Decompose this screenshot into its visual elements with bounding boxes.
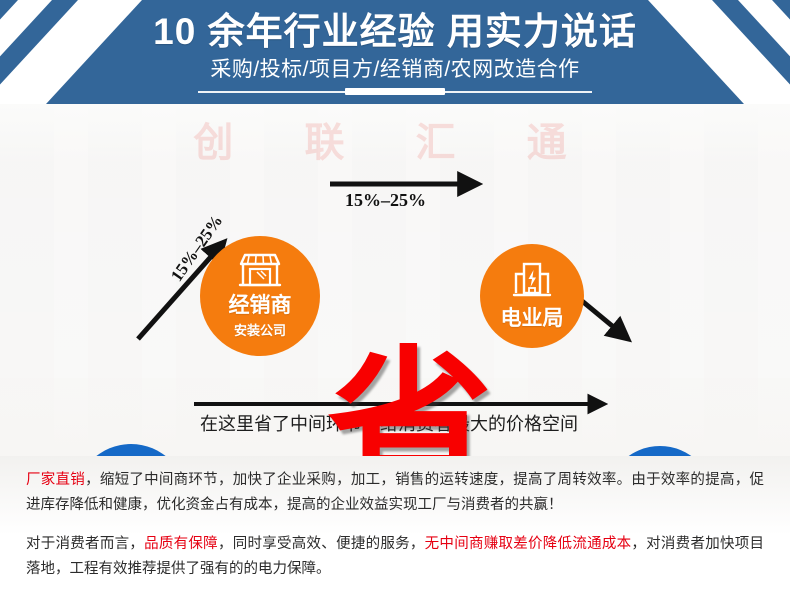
paragraph-1: 厂家直销，缩短了中间商环节，加快了企业采购，加工，销售的运转速度，提高了周转效率…	[0, 456, 790, 518]
divider-center-bar	[345, 88, 445, 95]
node-dealer-sublabel: 安装公司	[234, 320, 286, 339]
page-title: 10 余年行业经验 用实力说话	[0, 10, 790, 54]
storefront-icon	[237, 253, 283, 292]
arrow-label-dealer-to-bureau: 15%–25%	[345, 190, 426, 211]
p2-lead: 对于消费者而言，	[26, 536, 144, 552]
p1-rest: ，缩短了中间商环节，加快了企业采购，加工，销售的运转速度，提高了周转效率。由于效…	[26, 472, 764, 513]
node-dealer[interactable]: 经销商 安装公司	[200, 236, 320, 356]
header-divider	[198, 88, 592, 96]
header-banner: 10 余年行业经验 用实力说话 采购/投标/项目方/经销商/农网改造合作	[0, 0, 790, 104]
node-bureau-label: 电业局	[501, 308, 564, 330]
p2-highlight-1: 品质有保障	[144, 536, 218, 552]
node-dealer-label: 经销商	[229, 295, 292, 317]
power-building-icon	[511, 261, 553, 304]
p2-mid: ，同时享受高效、便捷的服务，	[218, 536, 425, 552]
infographic-page: 10 余年行业经验 用实力说话 采购/投标/项目方/经销商/农网改造合作 创 联…	[0, 0, 790, 600]
paragraph-2: 对于消费者而言，品质有保障，同时享受高效、便捷的服务，无中间商赚取差价降低流通成…	[0, 518, 790, 582]
header-subtitle: 采购/投标/项目方/经销商/农网改造合作	[0, 57, 790, 83]
big-save-character: 省	[325, 342, 495, 456]
p1-highlight: 厂家直销	[26, 472, 85, 488]
flow-diagram: 创 联 汇 通 15%–25% 15%–25% 15%–25% 在这里省了中间环…	[0, 104, 790, 456]
p2-highlight-2: 无中间商赚取差价降低流通成本	[425, 536, 632, 552]
node-bureau[interactable]: 电业局	[480, 244, 584, 348]
body-text-section: 厂家直销，缩短了中间商环节，加快了企业采购，加工，销售的运转速度，提高了周转效率…	[0, 456, 790, 600]
